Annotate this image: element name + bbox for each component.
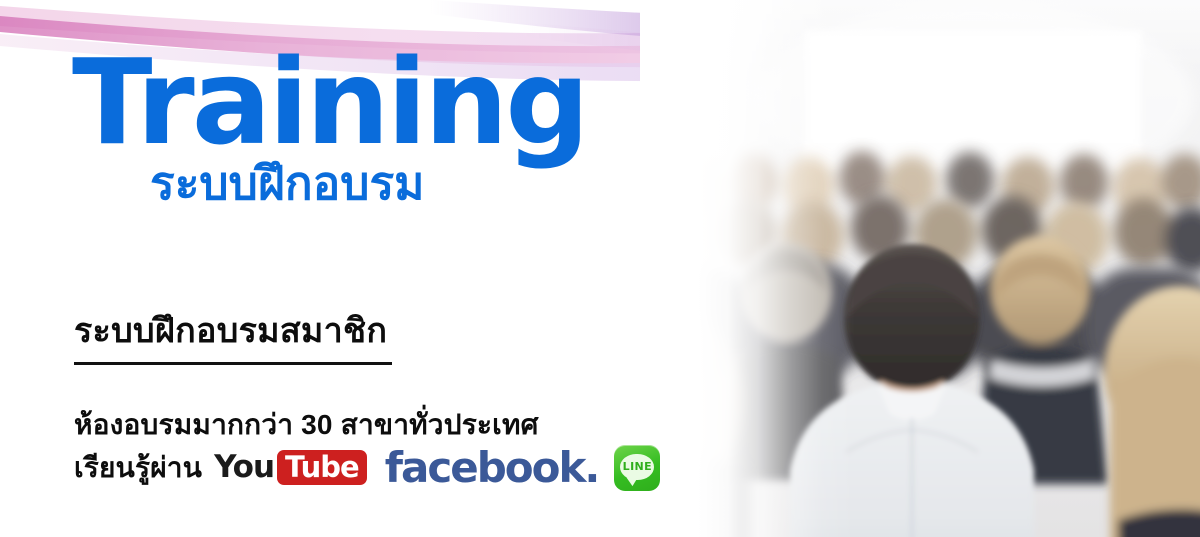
headline-divider [74,362,392,365]
youtube-red-box: Tube [277,450,367,485]
title-block: Training ระบบฝึกอบรม [72,48,587,207]
content-column: Training ระบบฝึกอบรม ระบบฝึกอบรมสมาชิก ห… [0,0,660,537]
headline-block: ระบบฝึกอบรมสมาชิก [74,312,594,365]
line-speech-bubble: LINE [620,454,654,480]
youtube-icon[interactable]: You Tube [214,450,367,485]
branches-text: ห้องอบรมมากกว่า 30 สาขาทั่วประเทศ [74,405,634,445]
youtube-wordmark-dark: You [214,452,274,483]
line-icon[interactable]: LINE [614,445,660,491]
tagline-block: ห้องอบรมมากกว่า 30 สาขาทั่วประเทศ เรียนร… [74,405,634,491]
youtube-wordmark-light: Tube [285,452,359,482]
facebook-icon[interactable]: facebook. [385,447,599,489]
page-title: Training [72,48,587,157]
learn-via-label: เรียนรู้ผ่าน [74,446,202,490]
headline-text: ระบบฝึกอบรมสมาชิก [74,312,594,351]
line-wordmark: LINE [623,461,652,472]
training-banner: Training ระบบฝึกอบรม ระบบฝึกอบรมสมาชิก ห… [0,0,1200,537]
social-channels-row: เรียนรู้ผ่าน You Tube facebook. LINE [74,445,634,491]
seminar-audience-photo [640,0,1200,537]
